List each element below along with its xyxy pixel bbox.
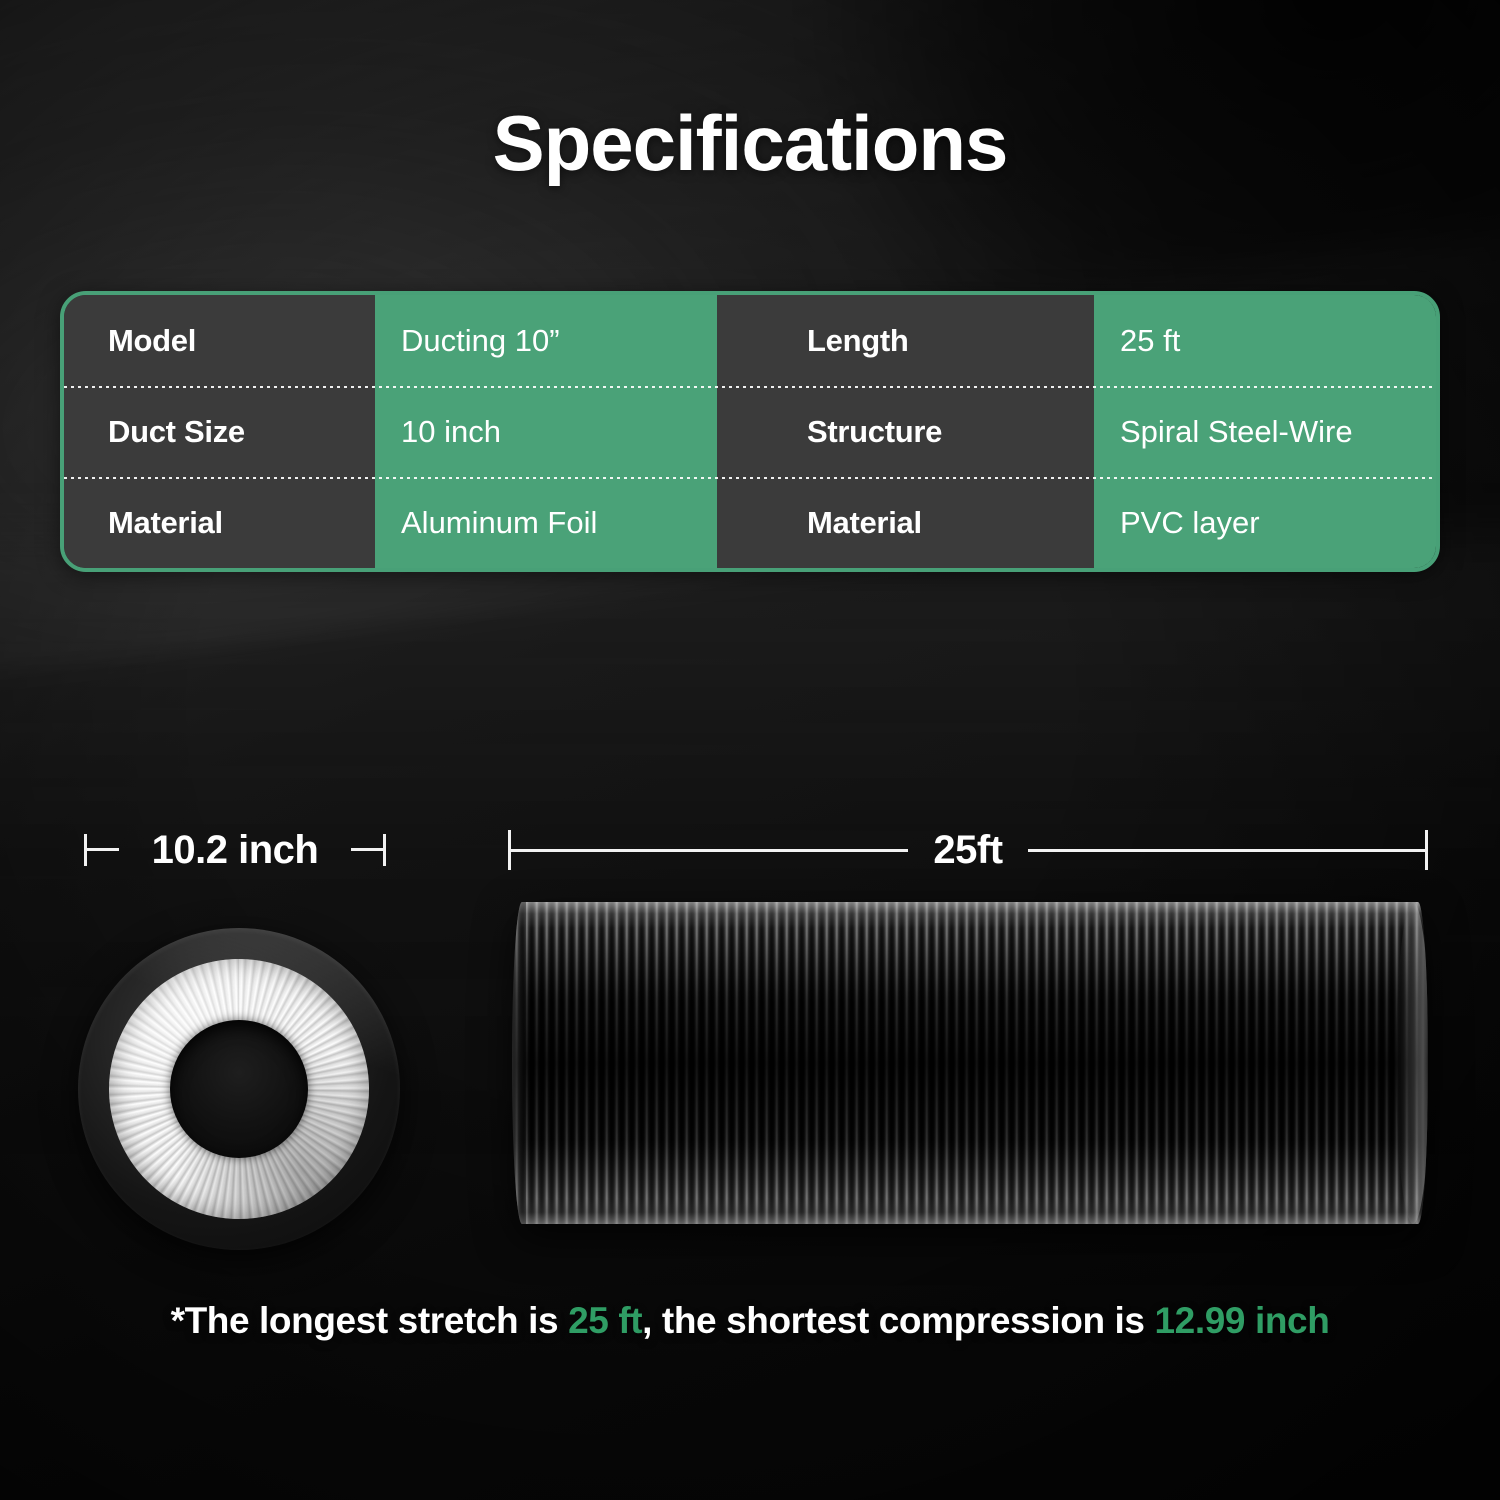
specifications-table: Model Ducting 10” Length 25 ft Duct Size…: [60, 291, 1440, 572]
footnote: *The longest stretch is 25 ft, the short…: [0, 1300, 1500, 1342]
spec-label-material-left: Material: [64, 477, 375, 568]
spec-label-material-right: Material: [717, 477, 1094, 568]
footnote-part-1: *The longest stretch is: [171, 1300, 569, 1341]
page-title: Specifications: [0, 104, 1500, 182]
footnote-highlight-stretch: 25 ft: [568, 1300, 642, 1341]
spec-value-material-right: PVC layer: [1094, 477, 1436, 568]
spec-value-material-left: Aluminum Foil: [375, 477, 717, 568]
spec-value-model: Ducting 10”: [375, 295, 717, 386]
dimension-line-left-icon: [86, 848, 119, 851]
tube-right-cap: [1396, 902, 1428, 1224]
table-row: Model Ducting 10” Length 25 ft: [64, 295, 1436, 386]
table-row: Material Aluminum Foil Material PVC laye…: [64, 477, 1436, 568]
dimension-tick-right-icon: [383, 834, 386, 866]
spec-value-structure: Spiral Steel-Wire: [1094, 386, 1436, 477]
footnote-highlight-compression: 12.99 inch: [1154, 1300, 1329, 1341]
spec-value-length: 25 ft: [1094, 295, 1436, 386]
duct-tube-image: [512, 902, 1428, 1224]
background-vignette: [0, 0, 1500, 1500]
dimension-line-right-icon: [1028, 849, 1426, 852]
spec-label-structure: Structure: [717, 386, 1094, 477]
tube-top-highlight: [512, 902, 1428, 928]
duct-bore: [170, 1020, 308, 1158]
diameter-label: 10.2 inch: [124, 824, 346, 876]
spec-label-model: Model: [64, 295, 375, 386]
duct-cross-section-image: [78, 928, 400, 1250]
specifications-page: Specifications Model Ducting 10” Length …: [0, 0, 1500, 1500]
table-row: Duct Size 10 inch Structure Spiral Steel…: [64, 386, 1436, 477]
dimension-line-right-icon: [351, 848, 384, 851]
tube-left-edge: [512, 902, 526, 1224]
dimension-tick-right-icon: [1425, 830, 1428, 870]
tube-shading: [512, 902, 1428, 1224]
length-dimension: 25ft: [508, 824, 1428, 878]
tube-bottom-highlight: [512, 1198, 1428, 1224]
footnote-part-2: , the shortest compression is: [642, 1300, 1154, 1341]
spec-value-duct-size: 10 inch: [375, 386, 717, 477]
spec-label-length: Length: [717, 295, 1094, 386]
diameter-dimension: 10.2 inch: [84, 824, 386, 878]
spec-label-duct-size: Duct Size: [64, 386, 375, 477]
